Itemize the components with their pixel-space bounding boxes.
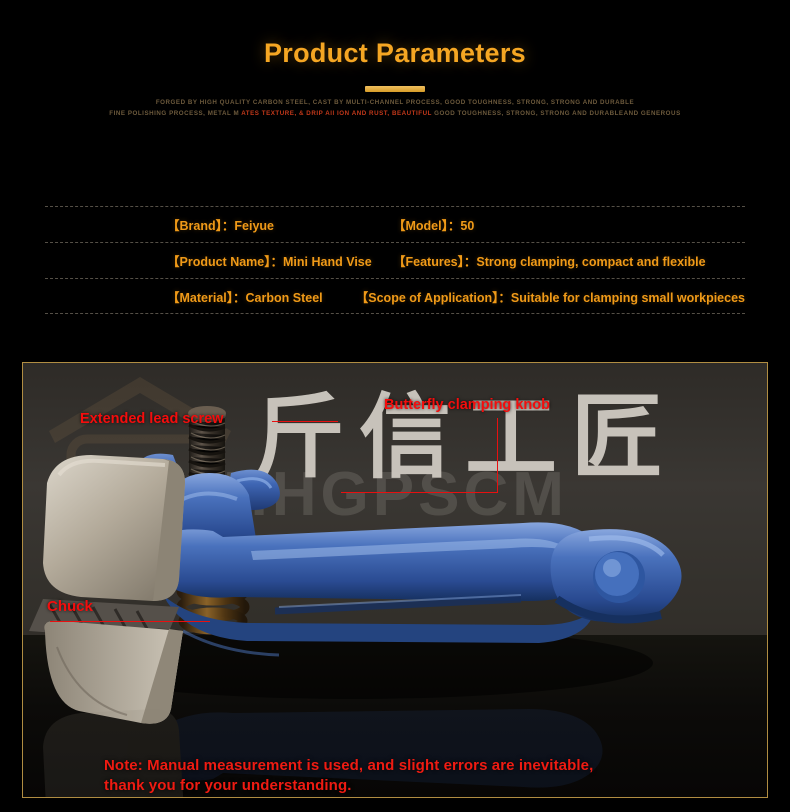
spec-value-material: Carbon Steel: [246, 291, 323, 305]
spec-cell-material: 【Material】：Carbon Steel: [45, 287, 348, 306]
spec-value-features: Strong clamping, compact and flexible: [476, 255, 705, 269]
spec-sep: ：: [448, 219, 461, 233]
leader-line-knob-vertical: [497, 418, 498, 493]
measurement-note: Note: Manual measurement is used, and sl…: [104, 756, 593, 796]
spec-value-scope: Suitable for clamping small workpieces: [511, 291, 745, 305]
subtitle-line-1: FORGED BY HIGH QUALITY CARBON STEEL, CAS…: [0, 97, 790, 109]
leader-line-knob-horizontal: [341, 492, 498, 493]
spec-sep: ：: [222, 219, 235, 233]
spec-cell-product-name: 【Product Name】：Mini Hand Vise: [45, 251, 385, 270]
callout-butterfly-clamping-knob: Butterfly clamping knob: [384, 397, 550, 413]
spec-cell-brand: 【Brand】：Feiyue: [45, 215, 385, 234]
spec-sep: ：: [233, 291, 246, 305]
spec-sep: ：: [271, 255, 284, 269]
subtitle-line-2-part-b: GOOD TOUGHNESS, STRONG, STRONG AND DURAB…: [434, 110, 681, 117]
leader-line-chuck: [50, 621, 210, 622]
callout-chuck: Chuck: [47, 598, 93, 615]
page-title: Product Parameters: [0, 38, 790, 69]
product-image-panel: 斤信工匠 HHGPSCM: [22, 362, 768, 798]
table-row: 【Material】：Carbon Steel 【Scope of Applic…: [45, 278, 745, 314]
spec-label-features: 【Features】: [393, 255, 464, 269]
subtitle-line-2-part-a: FINE POLISHING PROCESS, METAL M: [109, 110, 239, 117]
product-parameters-page: Product Parameters FORGED BY HIGH QUALIT…: [0, 0, 790, 812]
spec-value-brand: Feiyue: [234, 219, 274, 233]
subtitle-line-2-highlight: ATES TEXTURE, & DRIP All ION AND RUST, B…: [241, 110, 432, 117]
spec-table: 【Brand】：Feiyue 【Model】：50 【Product Name】…: [45, 206, 745, 314]
callout-extended-lead-screw: Extended lead screw: [80, 411, 223, 427]
spec-label-model: 【Model】: [393, 219, 448, 233]
spec-label-product-name: 【Product Name】: [167, 255, 271, 269]
subtitle-line-2: FINE POLISHING PROCESS, METAL M ATES TEX…: [0, 108, 790, 120]
spec-label-brand: 【Brand】: [167, 219, 222, 233]
table-row: 【Product Name】：Mini Hand Vise 【Features】…: [45, 242, 745, 278]
product-image: 斤信工匠 HHGPSCM: [23, 363, 767, 797]
spec-cell-model: 【Model】：50: [385, 215, 745, 234]
spec-value-product-name: Mini Hand Vise: [283, 255, 372, 269]
leader-line-lead-screw: [272, 421, 338, 422]
title-divider-bar: [365, 86, 425, 92]
spec-value-model: 50: [460, 219, 474, 233]
measurement-note-line-2: thank you for your understanding.: [104, 776, 593, 796]
subtitle-block: FORGED BY HIGH QUALITY CARBON STEEL, CAS…: [0, 97, 790, 119]
pivot-joint-part: [551, 529, 682, 622]
spec-sep: ：: [464, 255, 477, 269]
table-row: 【Brand】：Feiyue 【Model】：50: [45, 206, 745, 242]
chuck-jaw-part: [29, 455, 185, 724]
spec-cell-scope: 【Scope of Application】：Suitable for clam…: [348, 287, 745, 306]
spec-label-scope: 【Scope of Application】: [356, 291, 499, 305]
spec-label-material: 【Material】: [167, 291, 233, 305]
spec-cell-features: 【Features】：Strong clamping, compact and …: [385, 251, 745, 270]
spec-sep: ：: [498, 291, 511, 305]
hand-vise-product-illustration: [23, 363, 768, 798]
vise-main-body: [145, 522, 603, 655]
measurement-note-line-1: Note: Manual measurement is used, and sl…: [104, 756, 593, 776]
